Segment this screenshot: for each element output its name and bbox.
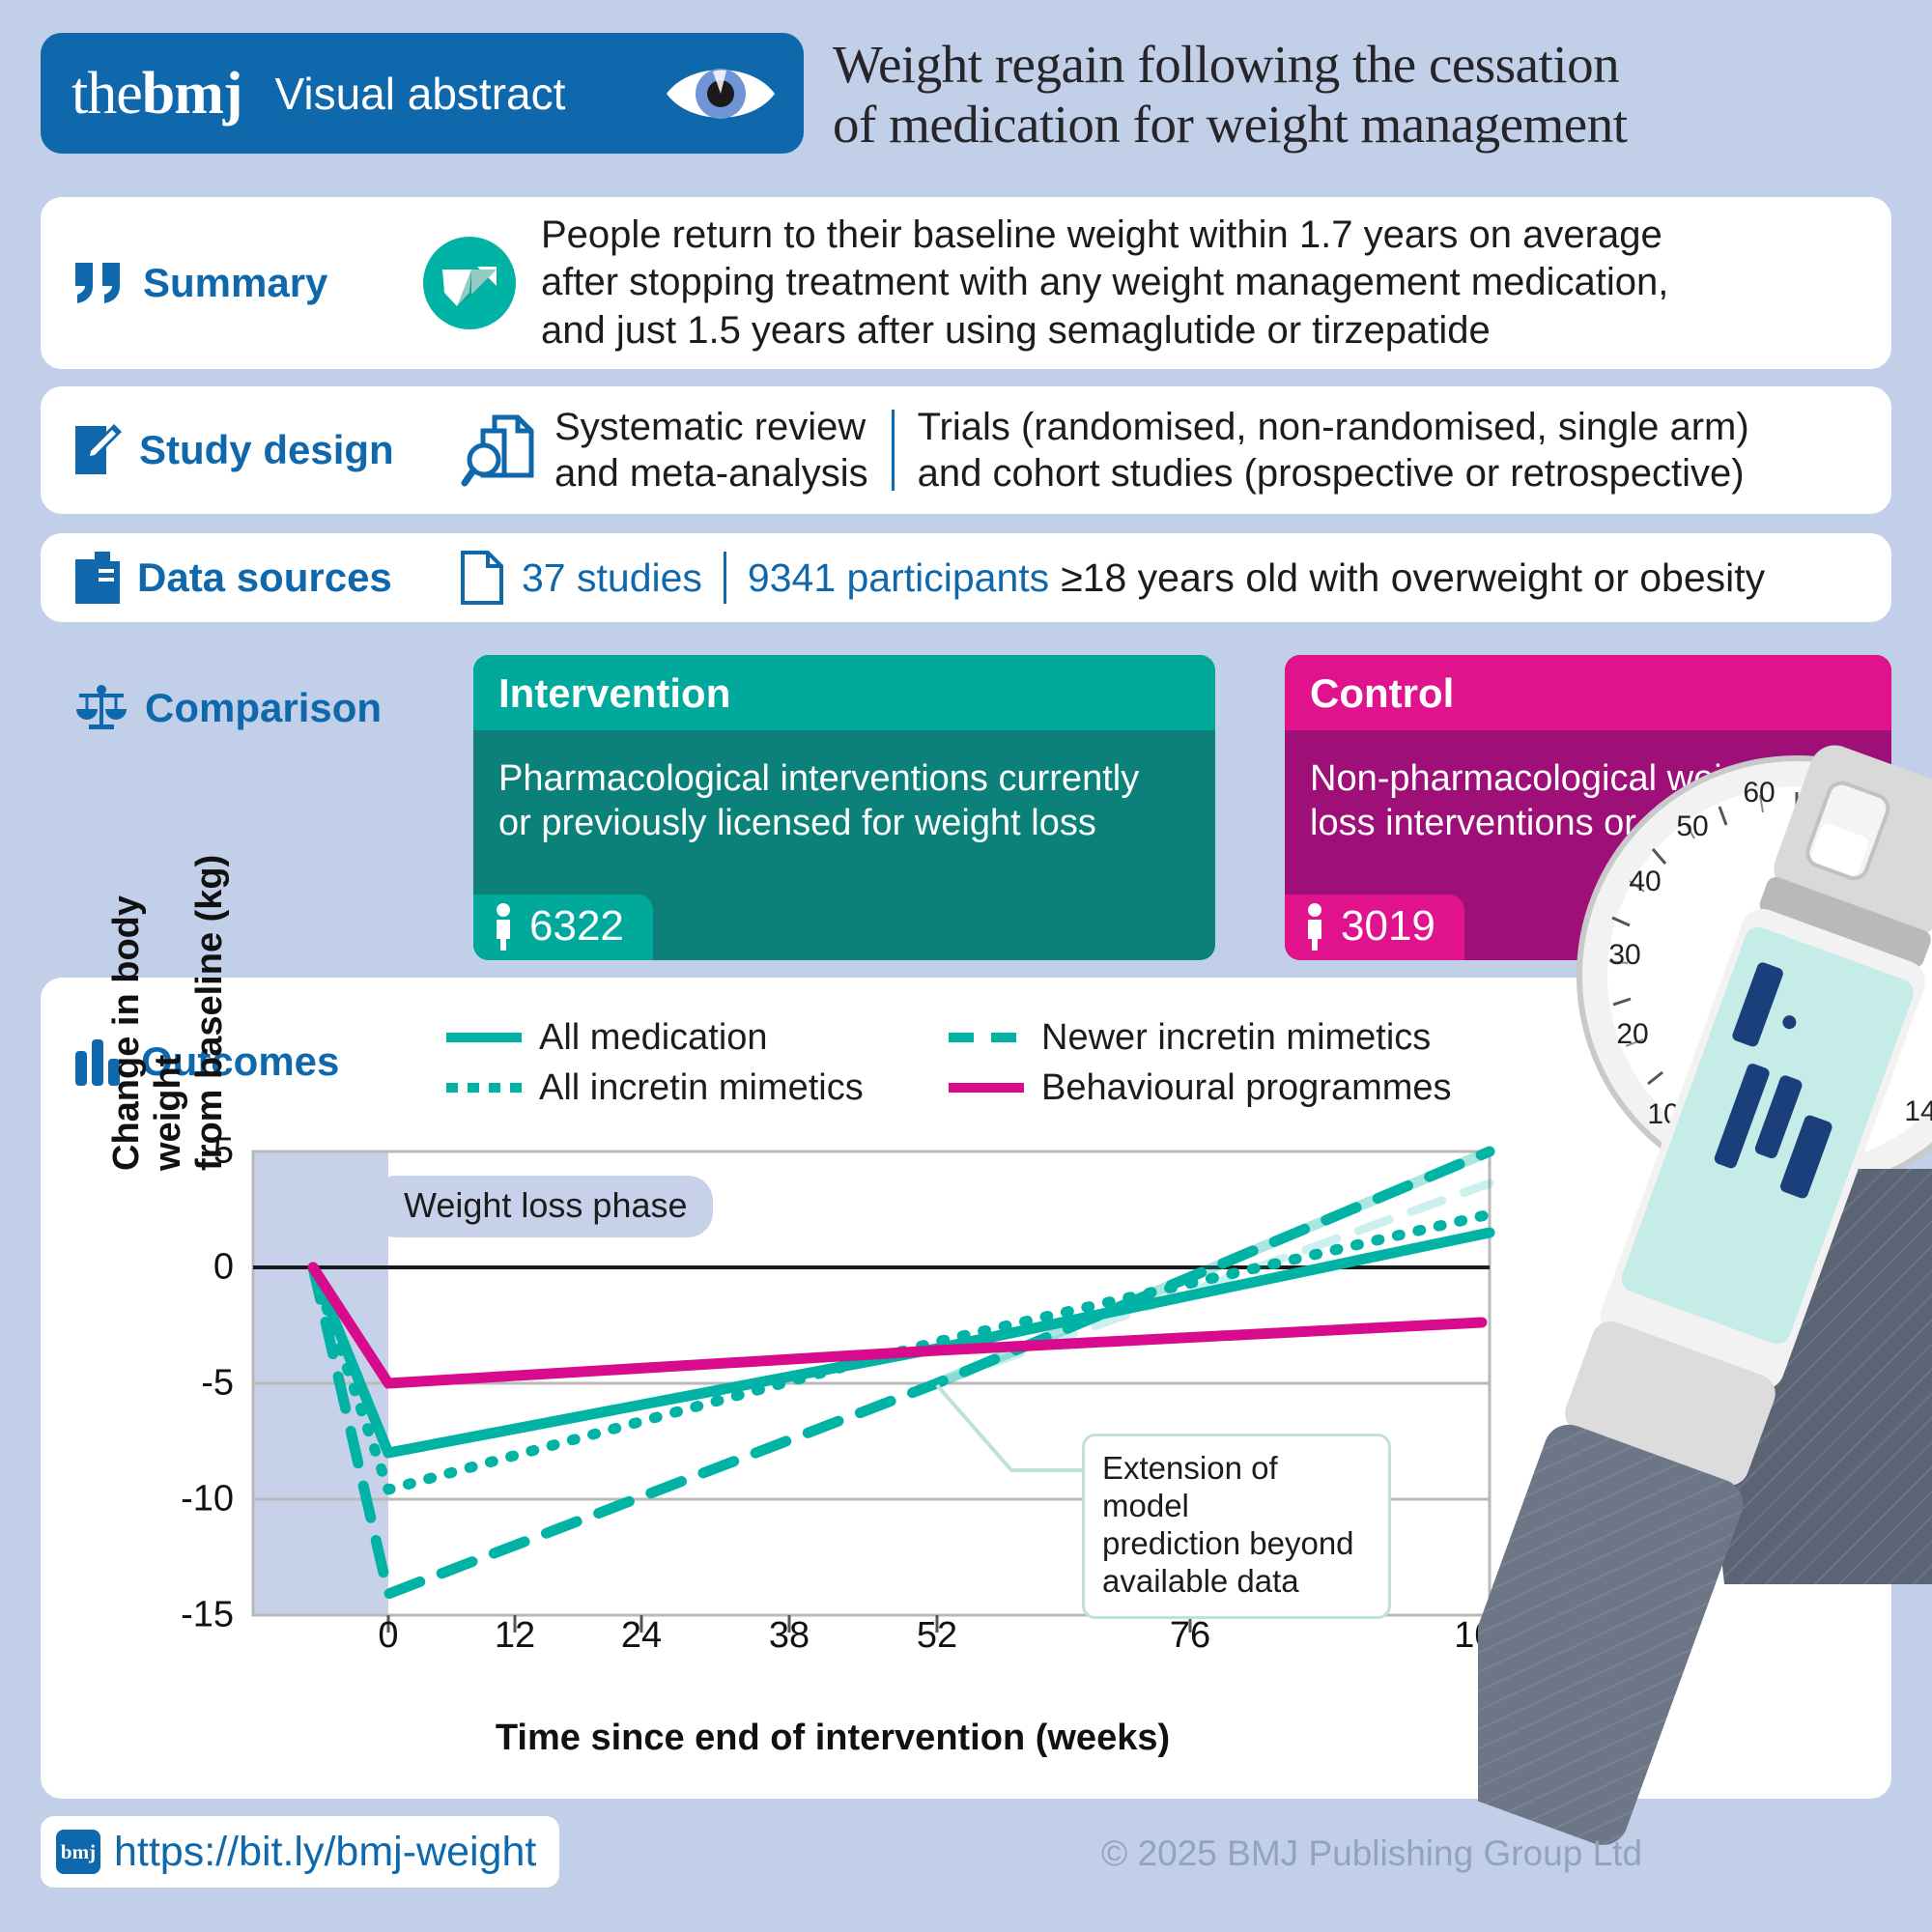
data-sources-card: Data sources 37 studies 9341 participant…: [41, 533, 1891, 622]
intervention-heading: Intervention: [473, 655, 1215, 730]
x-tick-24: 24: [583, 1615, 699, 1657]
intervention-count: 6322: [529, 902, 624, 951]
study-design-sources-line-2: and cohort studies (prospective or retro…: [918, 450, 1749, 497]
article-url[interactable]: https://bit.ly/bmj-weight: [114, 1829, 536, 1876]
study-design-label-text: Study design: [139, 427, 394, 473]
bmj-logo-bmj: bmj: [142, 61, 242, 127]
control-description-line-2: loss interventions or placebos: [1310, 802, 1866, 846]
participants-count: 9341 participants: [748, 555, 1049, 601]
data-sources-section-label: Data sources: [73, 550, 460, 606]
summary-label-text: Summary: [143, 260, 327, 306]
title-line-1: Weight regain following the cessation: [833, 35, 1628, 95]
scale-number-80: 80: [1890, 790, 1922, 822]
document-search-icon: [460, 410, 541, 491]
legend-item-newer-incretin-mimetics: Newer incretin mimetics: [949, 1017, 1451, 1059]
x-tick-104: 104: [1427, 1615, 1543, 1657]
summary-section-label: Summary: [73, 260, 421, 306]
y-axis-title: Change in body weight from baseline (kg): [106, 823, 164, 1171]
series-behavioural-programmes: [313, 1267, 1482, 1383]
weight-loss-check-icon: [421, 235, 518, 331]
summary-line-1: People return to their baseline weight w…: [541, 212, 1668, 260]
quote-icon: [73, 261, 128, 305]
divider: [892, 410, 895, 491]
chart-legend: All medication Newer incretin mimetics A…: [446, 1012, 1451, 1113]
summary-card: Summary People return to their baseline …: [41, 197, 1891, 369]
legend-swatch-dashed-teal: [949, 1033, 1024, 1042]
legend-item-behavioural-programmes: Behavioural programmes: [949, 1067, 1451, 1109]
control-description: Non-pharmacological weight loss interven…: [1285, 730, 1891, 845]
x-tick-76: 76: [1132, 1615, 1248, 1657]
intervention-description: Pharmacological interventions currently …: [473, 730, 1215, 845]
divider: [724, 552, 726, 604]
study-design-type-line-1: Systematic review: [554, 404, 868, 450]
control-count: 3019: [1341, 902, 1435, 951]
control-description-line-1: Non-pharmacological weight: [1310, 757, 1866, 802]
page-title: Weight regain following the cessation of…: [833, 33, 1628, 154]
study-design-card: Study design Systematic review and meta-…: [41, 386, 1891, 514]
weight-loss-phase-annotation: Weight loss phase: [371, 1176, 713, 1237]
bmj-logo: thebmj: [71, 64, 242, 124]
x-tick-12: 12: [457, 1615, 573, 1657]
x-axis-title: Time since end of intervention (weeks): [243, 1718, 1422, 1759]
title-line-2: of medication for weight management: [833, 95, 1628, 155]
header: thebmj Visual abstract Weight regain fol…: [41, 33, 1891, 158]
documents-icon: [73, 550, 122, 606]
copyright-text: © 2025 BMJ Publishing Group Ltd: [1101, 1833, 1642, 1874]
intervention-description-line-2: or previously licensed for weight loss: [498, 802, 1190, 846]
outcomes-card: Outcomes All medication Newer incretin m…: [41, 978, 1891, 1799]
outcomes-chart: Change in body weight from baseline (kg)…: [99, 1122, 1644, 1760]
intervention-box: Intervention Pharmacological interventio…: [473, 655, 1215, 960]
scales-icon: [73, 682, 129, 734]
scale-number-140: 14: [1904, 1095, 1932, 1127]
study-design-sources-line-1: Trials (randomised, non-randomised, sing…: [918, 404, 1749, 450]
visual-abstract-page: thebmj Visual abstract Weight regain fol…: [0, 0, 1932, 1932]
bmj-logo-the: the: [71, 61, 142, 127]
legend-label: All medication: [539, 1017, 768, 1059]
comparison-section-label: Comparison: [73, 682, 382, 734]
eye-icon: [663, 58, 779, 129]
person-icon: [493, 902, 514, 951]
study-design-type: Systematic review and meta-analysis: [554, 404, 868, 497]
url-pill[interactable]: bmj https://bit.ly/bmj-weight: [41, 1816, 559, 1888]
control-count-badge: 3019: [1285, 895, 1464, 960]
control-heading: Control: [1285, 655, 1891, 730]
study-design-section-label: Study design: [73, 422, 460, 478]
comparison-label-text: Comparison: [145, 685, 382, 731]
person-icon: [1304, 902, 1325, 951]
bmj-mini-logo: bmj: [56, 1830, 100, 1874]
control-box: Control Non-pharmacological weight loss …: [1285, 655, 1891, 960]
summary-line-3: and just 1.5 years after using semagluti…: [541, 307, 1668, 355]
study-design-sources: Trials (randomised, non-randomised, sing…: [918, 404, 1749, 497]
legend-label: Newer incretin mimetics: [1041, 1017, 1431, 1059]
x-tick-0: 0: [330, 1615, 446, 1657]
intervention-description-line-1: Pharmacological interventions currently: [498, 757, 1190, 802]
bmj-badge: thebmj Visual abstract: [41, 33, 804, 154]
callout-leader: [937, 1385, 1084, 1470]
data-sources-label-text: Data sources: [137, 554, 392, 601]
y-axis-title-line-2: from baseline (kg): [189, 823, 231, 1171]
comparison-section: Comparison Intervention Pharmacological …: [41, 645, 1891, 974]
study-design-type-line-2: and meta-analysis: [554, 450, 868, 497]
legend-item-all-incretin-mimetics: All incretin mimetics: [446, 1067, 949, 1109]
legend-label: All incretin mimetics: [539, 1067, 864, 1109]
legend-label: Behavioural programmes: [1041, 1067, 1452, 1109]
x-tick-38: 38: [731, 1615, 847, 1657]
visual-abstract-label: Visual abstract: [275, 68, 566, 120]
studies-count: 37 studies: [522, 555, 702, 601]
inclusion-criteria: ≥18 years old with overweight or obesity: [1061, 555, 1765, 601]
legend-swatch-solid-pink: [949, 1083, 1024, 1093]
page-icon: [460, 550, 504, 606]
model-extension-callout: Extension of model prediction beyond ava…: [1082, 1434, 1391, 1619]
pencil-icon: [73, 422, 124, 478]
x-tick-52: 52: [879, 1615, 995, 1657]
legend-swatch-dotted-teal: [446, 1083, 522, 1093]
summary-text: People return to their baseline weight w…: [541, 212, 1668, 355]
intervention-count-badge: 6322: [473, 895, 653, 960]
legend-swatch-solid-teal: [446, 1033, 522, 1042]
legend-item-all-medication: All medication: [446, 1017, 949, 1059]
summary-line-2: after stopping treatment with any weight…: [541, 259, 1668, 307]
chart-plot: [99, 1122, 1644, 1663]
